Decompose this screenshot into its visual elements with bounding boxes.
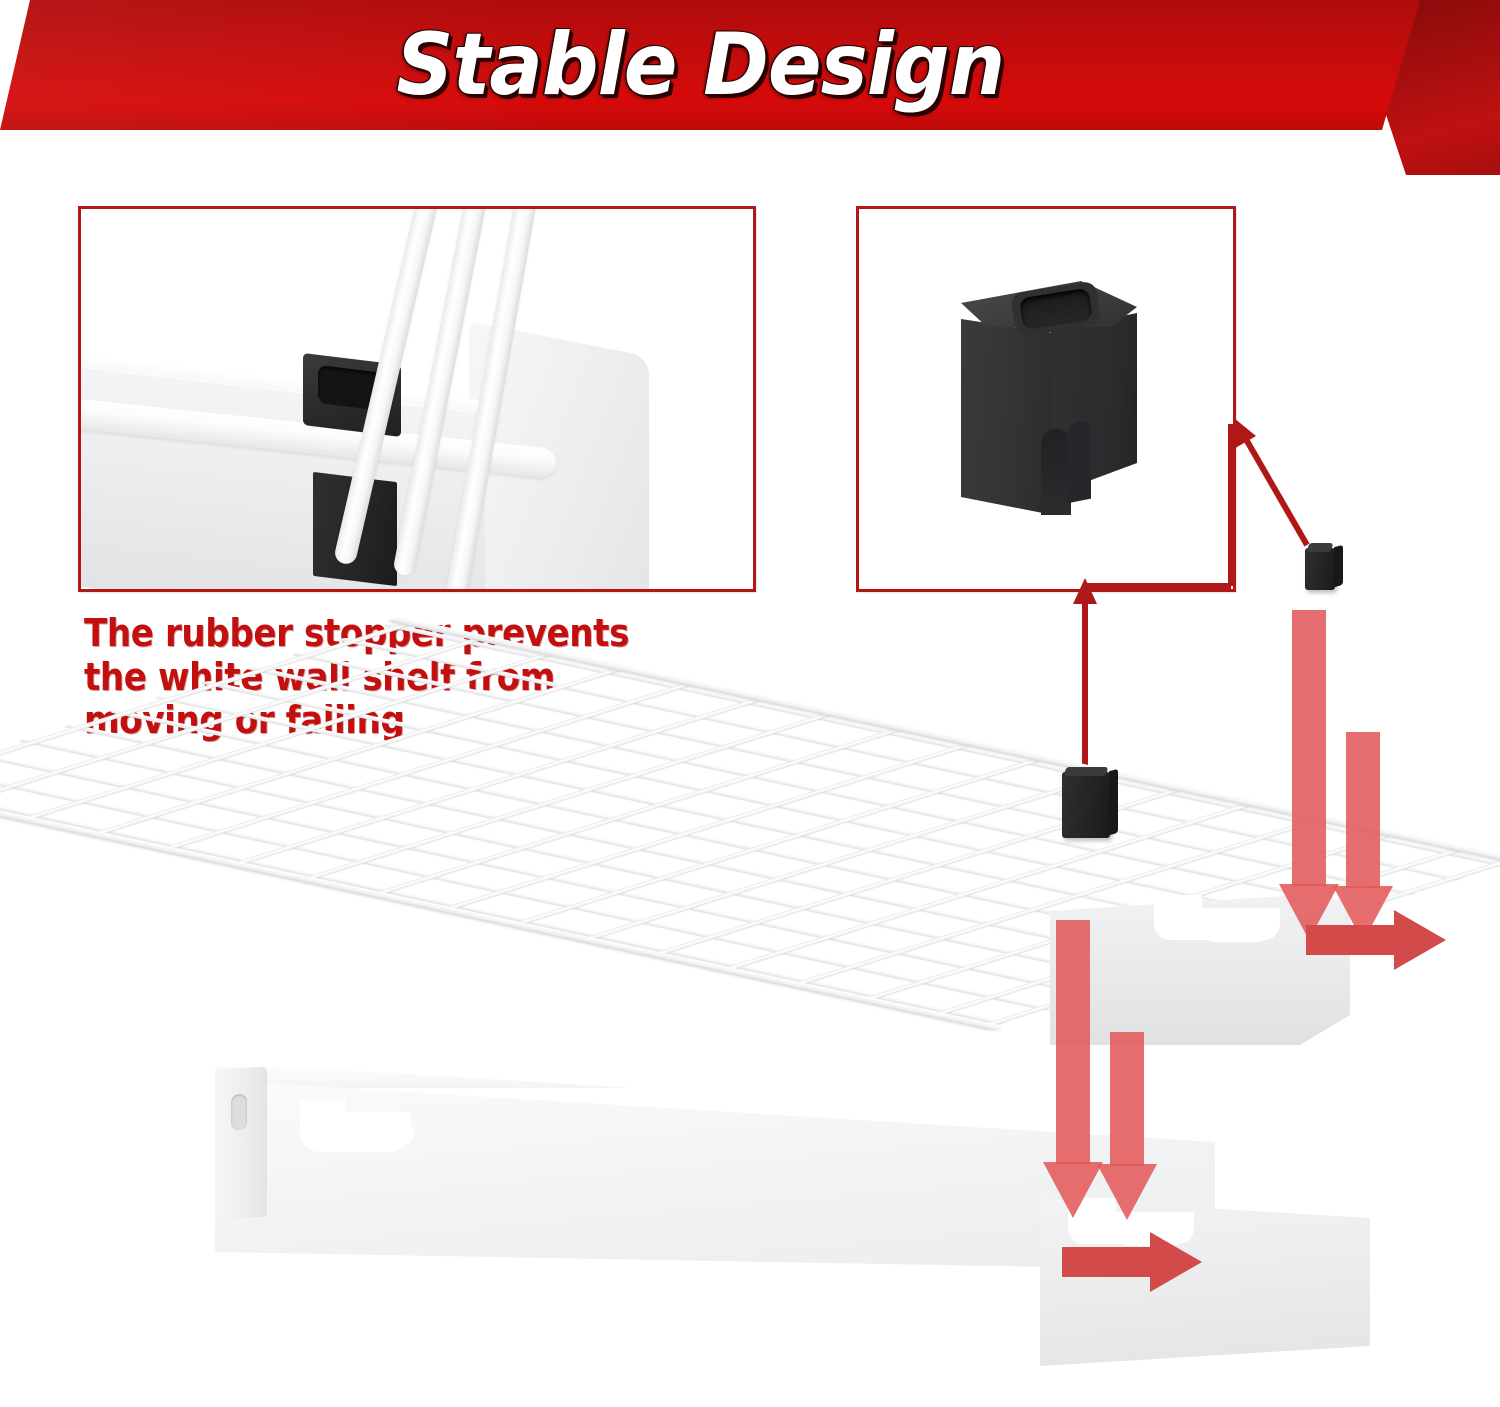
stopper-side <box>1109 769 1118 836</box>
keyhole-slot-front-round <box>346 1120 414 1146</box>
arrow-shaft <box>1062 1247 1154 1277</box>
stopper-lid <box>1064 767 1109 776</box>
stopper-front-face <box>961 319 1053 515</box>
slide-arrow-right-bottom <box>1062 1232 1202 1292</box>
stopper-side <box>1334 545 1343 588</box>
banner-body <box>0 0 1420 130</box>
install-arrow-down-3 <box>1056 920 1090 1220</box>
arrow-head <box>1150 1232 1202 1292</box>
rubber-stopper-on-shelf <box>1062 772 1110 838</box>
install-arrow-down-1 <box>1292 610 1326 940</box>
arrow-head <box>1097 1164 1157 1220</box>
arrow-shaft <box>1292 610 1326 886</box>
arrow-shaft <box>1306 925 1398 955</box>
arrow-head <box>1394 910 1446 970</box>
inset-panel-stopper-part <box>856 206 1236 592</box>
inset-panel-stopper-installed <box>78 206 756 592</box>
keyhole-slot-front-notch <box>300 1100 346 1128</box>
shelf-assembly-scene <box>0 600 1500 1407</box>
bracket-screw-hole <box>231 1094 247 1131</box>
callout-part-to-panel <box>1231 418 1307 586</box>
stopper-lid <box>1307 543 1334 552</box>
panel-right-artwork <box>859 209 1233 589</box>
arrow-shaft <box>1346 732 1380 888</box>
panel-left-artwork <box>81 209 753 589</box>
shelf-wire-rung <box>0 637 487 807</box>
wall-bracket-left <box>215 1067 267 1220</box>
arrow-head <box>1043 1162 1103 1218</box>
install-arrow-down-4 <box>1110 1032 1144 1222</box>
rubber-stopper-3d <box>955 281 1145 531</box>
rubber-stopper-loose-part <box>1305 548 1335 590</box>
stopper-bottom-slot-side <box>1067 419 1091 504</box>
arrow-shaft <box>1056 920 1090 1164</box>
slide-arrow-right-top <box>1306 910 1446 970</box>
header-banner: Stable Design <box>0 0 1500 175</box>
infographic-canvas: Stable Design <box>0 0 1500 1407</box>
arrow-shaft <box>1110 1032 1144 1166</box>
keyhole-slot-rear-round <box>1200 914 1272 942</box>
